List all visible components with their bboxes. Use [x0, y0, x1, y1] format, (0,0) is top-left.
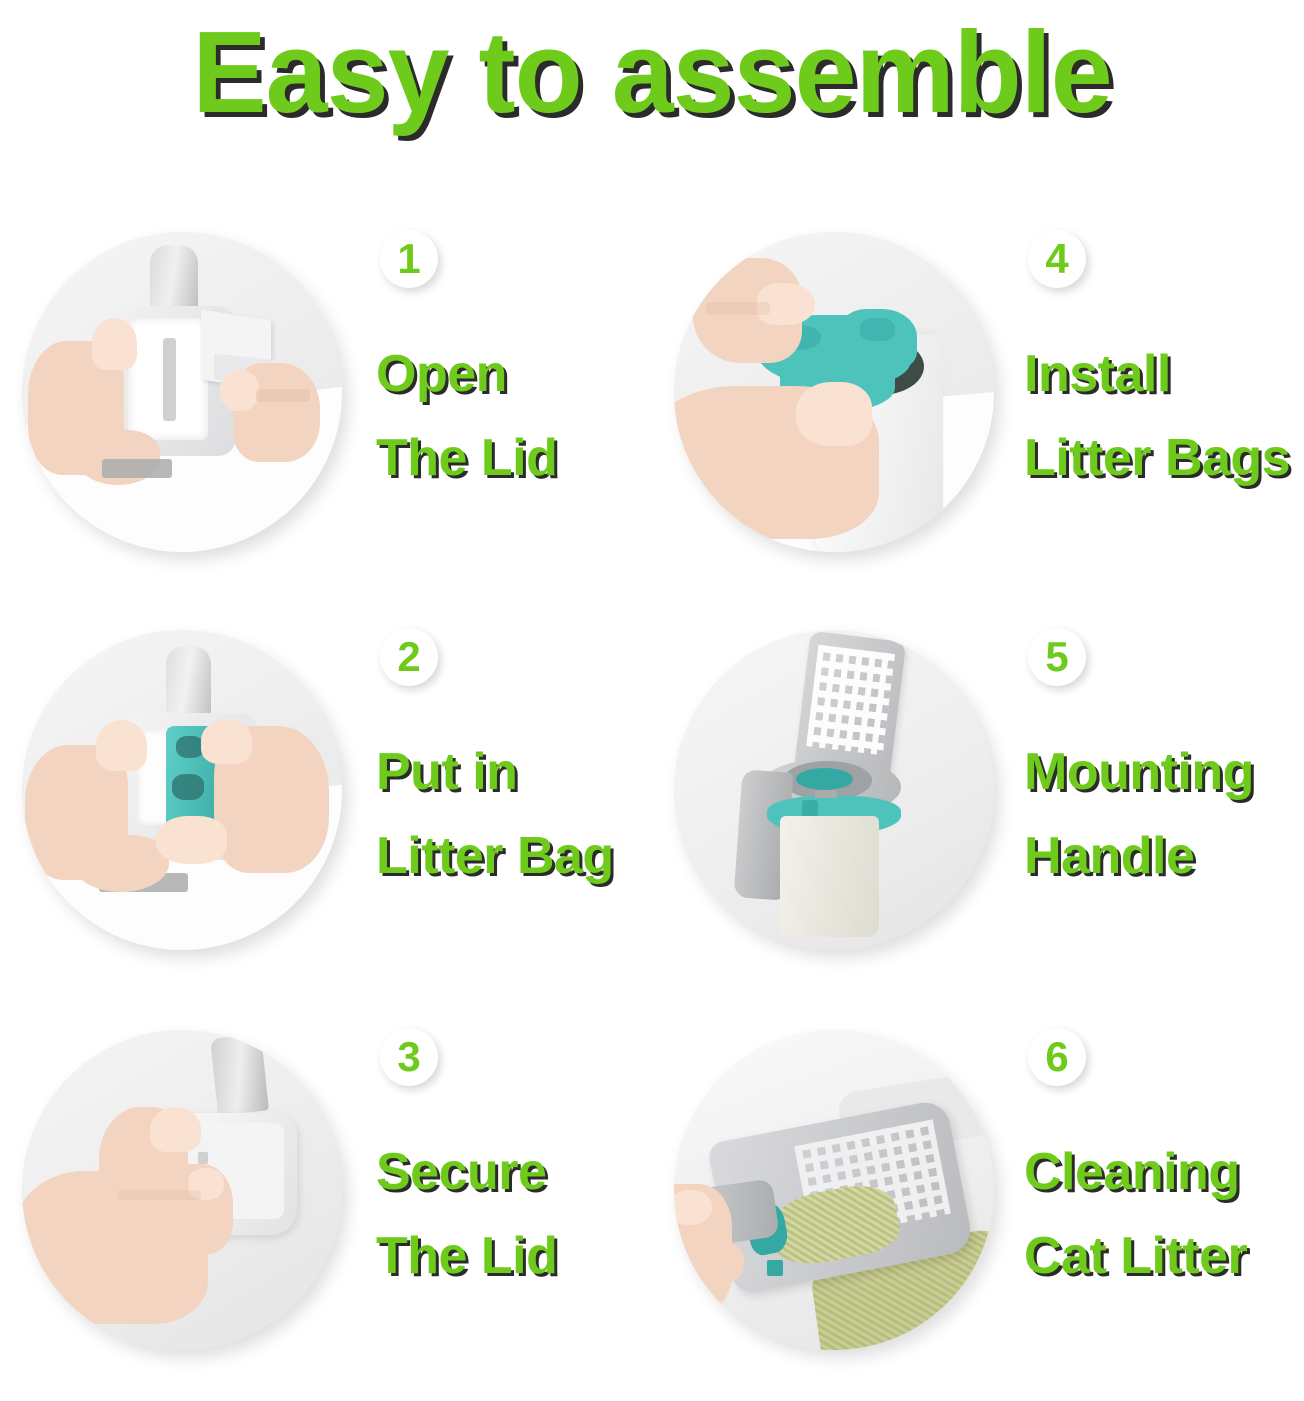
- step-1-photo-wrap: [22, 232, 342, 552]
- step-6-text: 6 Cleaning Cat Litter: [994, 1008, 1304, 1298]
- step-1-number-badge: 1: [380, 230, 438, 288]
- photo-open-the-lid-icon: [22, 232, 342, 552]
- step-5-label-line2: Handle: [1024, 814, 1304, 898]
- step-2-label-line1: Put in: [376, 730, 652, 814]
- step-3: 3 Secure The Lid: [0, 1008, 652, 1400]
- step-1-label-line2: The Lid: [376, 416, 652, 500]
- step-3-photo-wrap: [22, 1030, 342, 1350]
- step-2-text: 2 Put in Litter Bag: [342, 608, 652, 898]
- step-4-photo-wrap: [674, 232, 994, 552]
- step-1: 1 Open The Lid: [0, 210, 652, 608]
- step-5: 5 Mounting Handle: [652, 608, 1304, 1008]
- photo-cleaning-cat-litter-icon: [674, 1030, 994, 1350]
- step-2-number-badge: 2: [380, 628, 438, 686]
- step-1-text: 1 Open The Lid: [342, 210, 652, 500]
- step-6-label-line2: Cat Litter: [1024, 1214, 1304, 1298]
- step-4: 4 Install Litter Bags: [652, 210, 1304, 608]
- step-2-photo-wrap: [22, 630, 342, 950]
- step-4-label-line2: Litter Bags: [1024, 416, 1304, 500]
- photo-put-in-litter-bag-icon: [22, 630, 342, 950]
- step-4-number-badge: 4: [1028, 230, 1086, 288]
- step-6-label-line1: Cleaning: [1024, 1130, 1304, 1214]
- step-1-label: Open The Lid: [376, 332, 652, 500]
- step-5-photo-wrap: [674, 630, 994, 950]
- step-5-number-badge: 5: [1028, 628, 1086, 686]
- step-4-text: 4 Install Litter Bags: [994, 210, 1304, 500]
- step-6-number-badge: 6: [1028, 1028, 1086, 1086]
- step-3-label-line2: The Lid: [376, 1214, 652, 1298]
- page-title: Easy to assemble: [26, 0, 1278, 138]
- step-3-label-line1: Secure: [376, 1130, 652, 1214]
- step-5-text: 5 Mounting Handle: [994, 608, 1304, 898]
- step-2-label-line2: Litter Bag: [376, 814, 652, 898]
- step-3-text: 3 Secure The Lid: [342, 1008, 652, 1298]
- photo-mounting-handle-icon: [674, 630, 994, 950]
- step-4-label: Install Litter Bags: [1024, 332, 1304, 500]
- step-3-number-badge: 3: [380, 1028, 438, 1086]
- step-5-label-line1: Mounting: [1024, 730, 1304, 814]
- photo-install-litter-bags-icon: [674, 232, 994, 552]
- step-6: 6 Cleaning Cat Litter: [652, 1008, 1304, 1400]
- steps-grid: 1 Open The Lid: [0, 210, 1304, 1400]
- step-4-label-line1: Install: [1024, 332, 1304, 416]
- photo-secure-the-lid-icon: [22, 1030, 342, 1350]
- step-5-label: Mounting Handle: [1024, 730, 1304, 898]
- step-2-label: Put in Litter Bag: [376, 730, 652, 898]
- step-6-label: Cleaning Cat Litter: [1024, 1130, 1304, 1298]
- step-6-photo-wrap: [674, 1030, 994, 1350]
- step-2: 2 Put in Litter Bag: [0, 608, 652, 1008]
- step-3-label: Secure The Lid: [376, 1130, 652, 1298]
- step-1-label-line1: Open: [376, 332, 652, 416]
